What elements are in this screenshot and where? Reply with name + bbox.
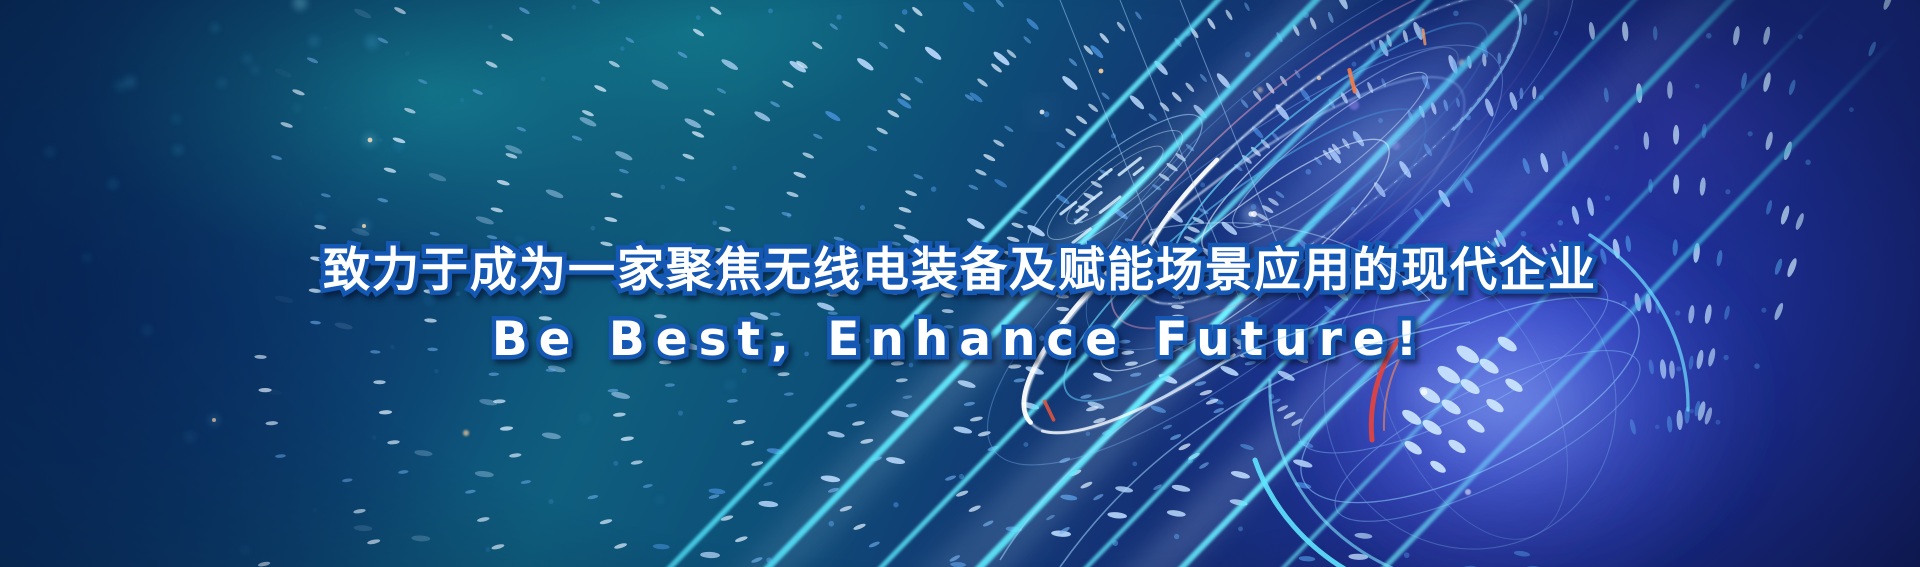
hero-banner: 致力于成为一家聚焦无线电装备及赋能场景应用的现代企业 Be Best, Enha… [0,0,1920,567]
background-vignette [0,0,1920,567]
headline-english: Be Best, Enhance Future! [0,309,1920,371]
background-teal-glow-secondary [0,0,1920,567]
background-teal-glow [0,0,1920,567]
background-navy-left-glow [0,0,1920,567]
background-right-blue-glow [0,0,1920,567]
foreground-orbit-arcs [0,0,1920,567]
core-connector-lines [1060,0,1300,300]
orbit-ring-group-middle [935,0,1554,526]
star-sparkles [208,59,1471,495]
lens-flares [1032,102,1438,406]
orbit-ring-group-upper [1034,0,1625,410]
radial-dash-grid [254,0,1894,567]
headline-block: 致力于成为一家聚焦无线电装备及赋能场景应用的现代企业 Be Best, Enha… [0,237,1920,371]
digital-core-disc [1011,95,1218,275]
particle-dot-grid [0,0,1920,567]
background-purple-glow [0,0,1920,567]
digital-globe [1255,202,1688,567]
background-base-gradient [0,0,1920,567]
diagonal-light-beams [0,0,1920,567]
orbit-rings-and-sphere [0,0,1920,567]
bokeh-dots [45,0,735,555]
headline-chinese: 致力于成为一家聚焦无线电装备及赋能场景应用的现代企业 [0,237,1920,305]
